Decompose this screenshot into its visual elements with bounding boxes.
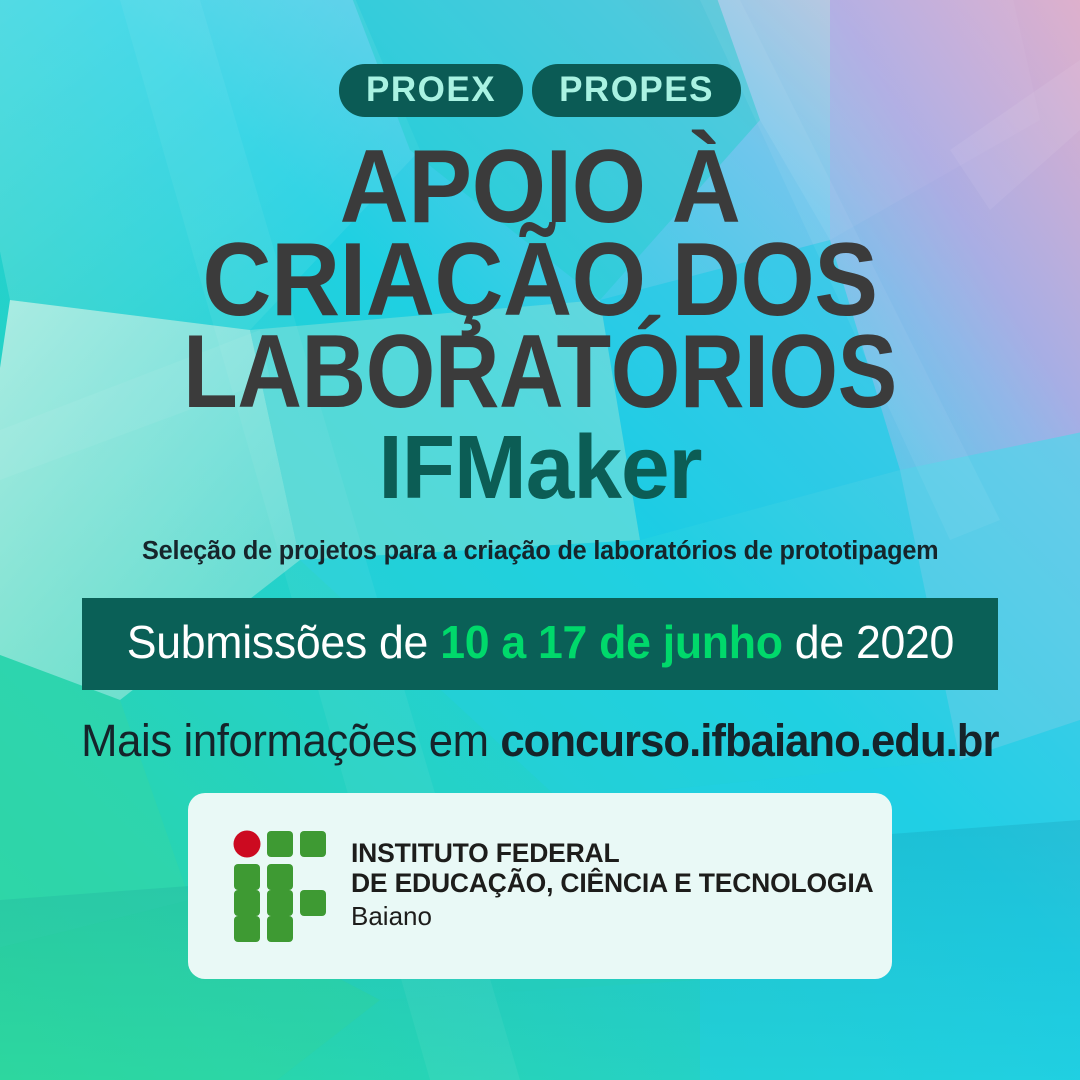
title-line-3: LABORATÓRIOS bbox=[110, 324, 970, 421]
program-badges: PROEX PROPES bbox=[339, 64, 741, 117]
institution-line-3-campus: Baiano bbox=[351, 900, 873, 934]
more-info-line: Mais informações em concurso.ifbaiano.ed… bbox=[81, 715, 998, 767]
logo-red-circle bbox=[234, 830, 261, 857]
institution-logo-card: INSTITUTO FEDERAL DE EDUCAÇÃO, CIÊNCIA E… bbox=[188, 793, 892, 979]
submission-period-banner: Submissões de 10 a 17 de junho de 2020 bbox=[82, 598, 998, 690]
title-line-4-ifmaker: IFMaker bbox=[55, 427, 1025, 511]
instituto-federal-logo-icon bbox=[233, 830, 329, 942]
poster-canvas: PROEX PROPES APOIO À CRIAÇÃO DOS LABORAT… bbox=[0, 0, 1080, 1080]
badge-propes[interactable]: PROPES bbox=[532, 64, 741, 117]
submission-suffix: de 2020 bbox=[782, 616, 953, 668]
subtitle: Seleção de projetos para a criação de la… bbox=[142, 537, 938, 566]
page-title: APOIO À CRIAÇÃO DOS LABORATÓRIOS IFMaker bbox=[40, 139, 1040, 511]
submission-prefix: Submissões de bbox=[126, 616, 439, 668]
more-info-prefix: Mais informações em bbox=[81, 715, 500, 766]
institution-line-2: DE EDUCAÇÃO, CIÊNCIA E TECNOLOGIA bbox=[351, 868, 873, 898]
poster-content: PROEX PROPES APOIO À CRIAÇÃO DOS LABORAT… bbox=[0, 0, 1080, 1080]
institution-name: INSTITUTO FEDERAL DE EDUCAÇÃO, CIÊNCIA E… bbox=[351, 838, 873, 933]
submission-period-text: Submissões de 10 a 17 de junho de 2020 bbox=[126, 615, 953, 669]
submission-dates-highlight: 10 a 17 de junho bbox=[440, 616, 783, 668]
more-info-url[interactable]: concurso.ifbaiano.edu.br bbox=[501, 715, 999, 766]
badge-proex[interactable]: PROEX bbox=[339, 64, 523, 117]
institution-line-1: INSTITUTO FEDERAL bbox=[351, 838, 873, 868]
